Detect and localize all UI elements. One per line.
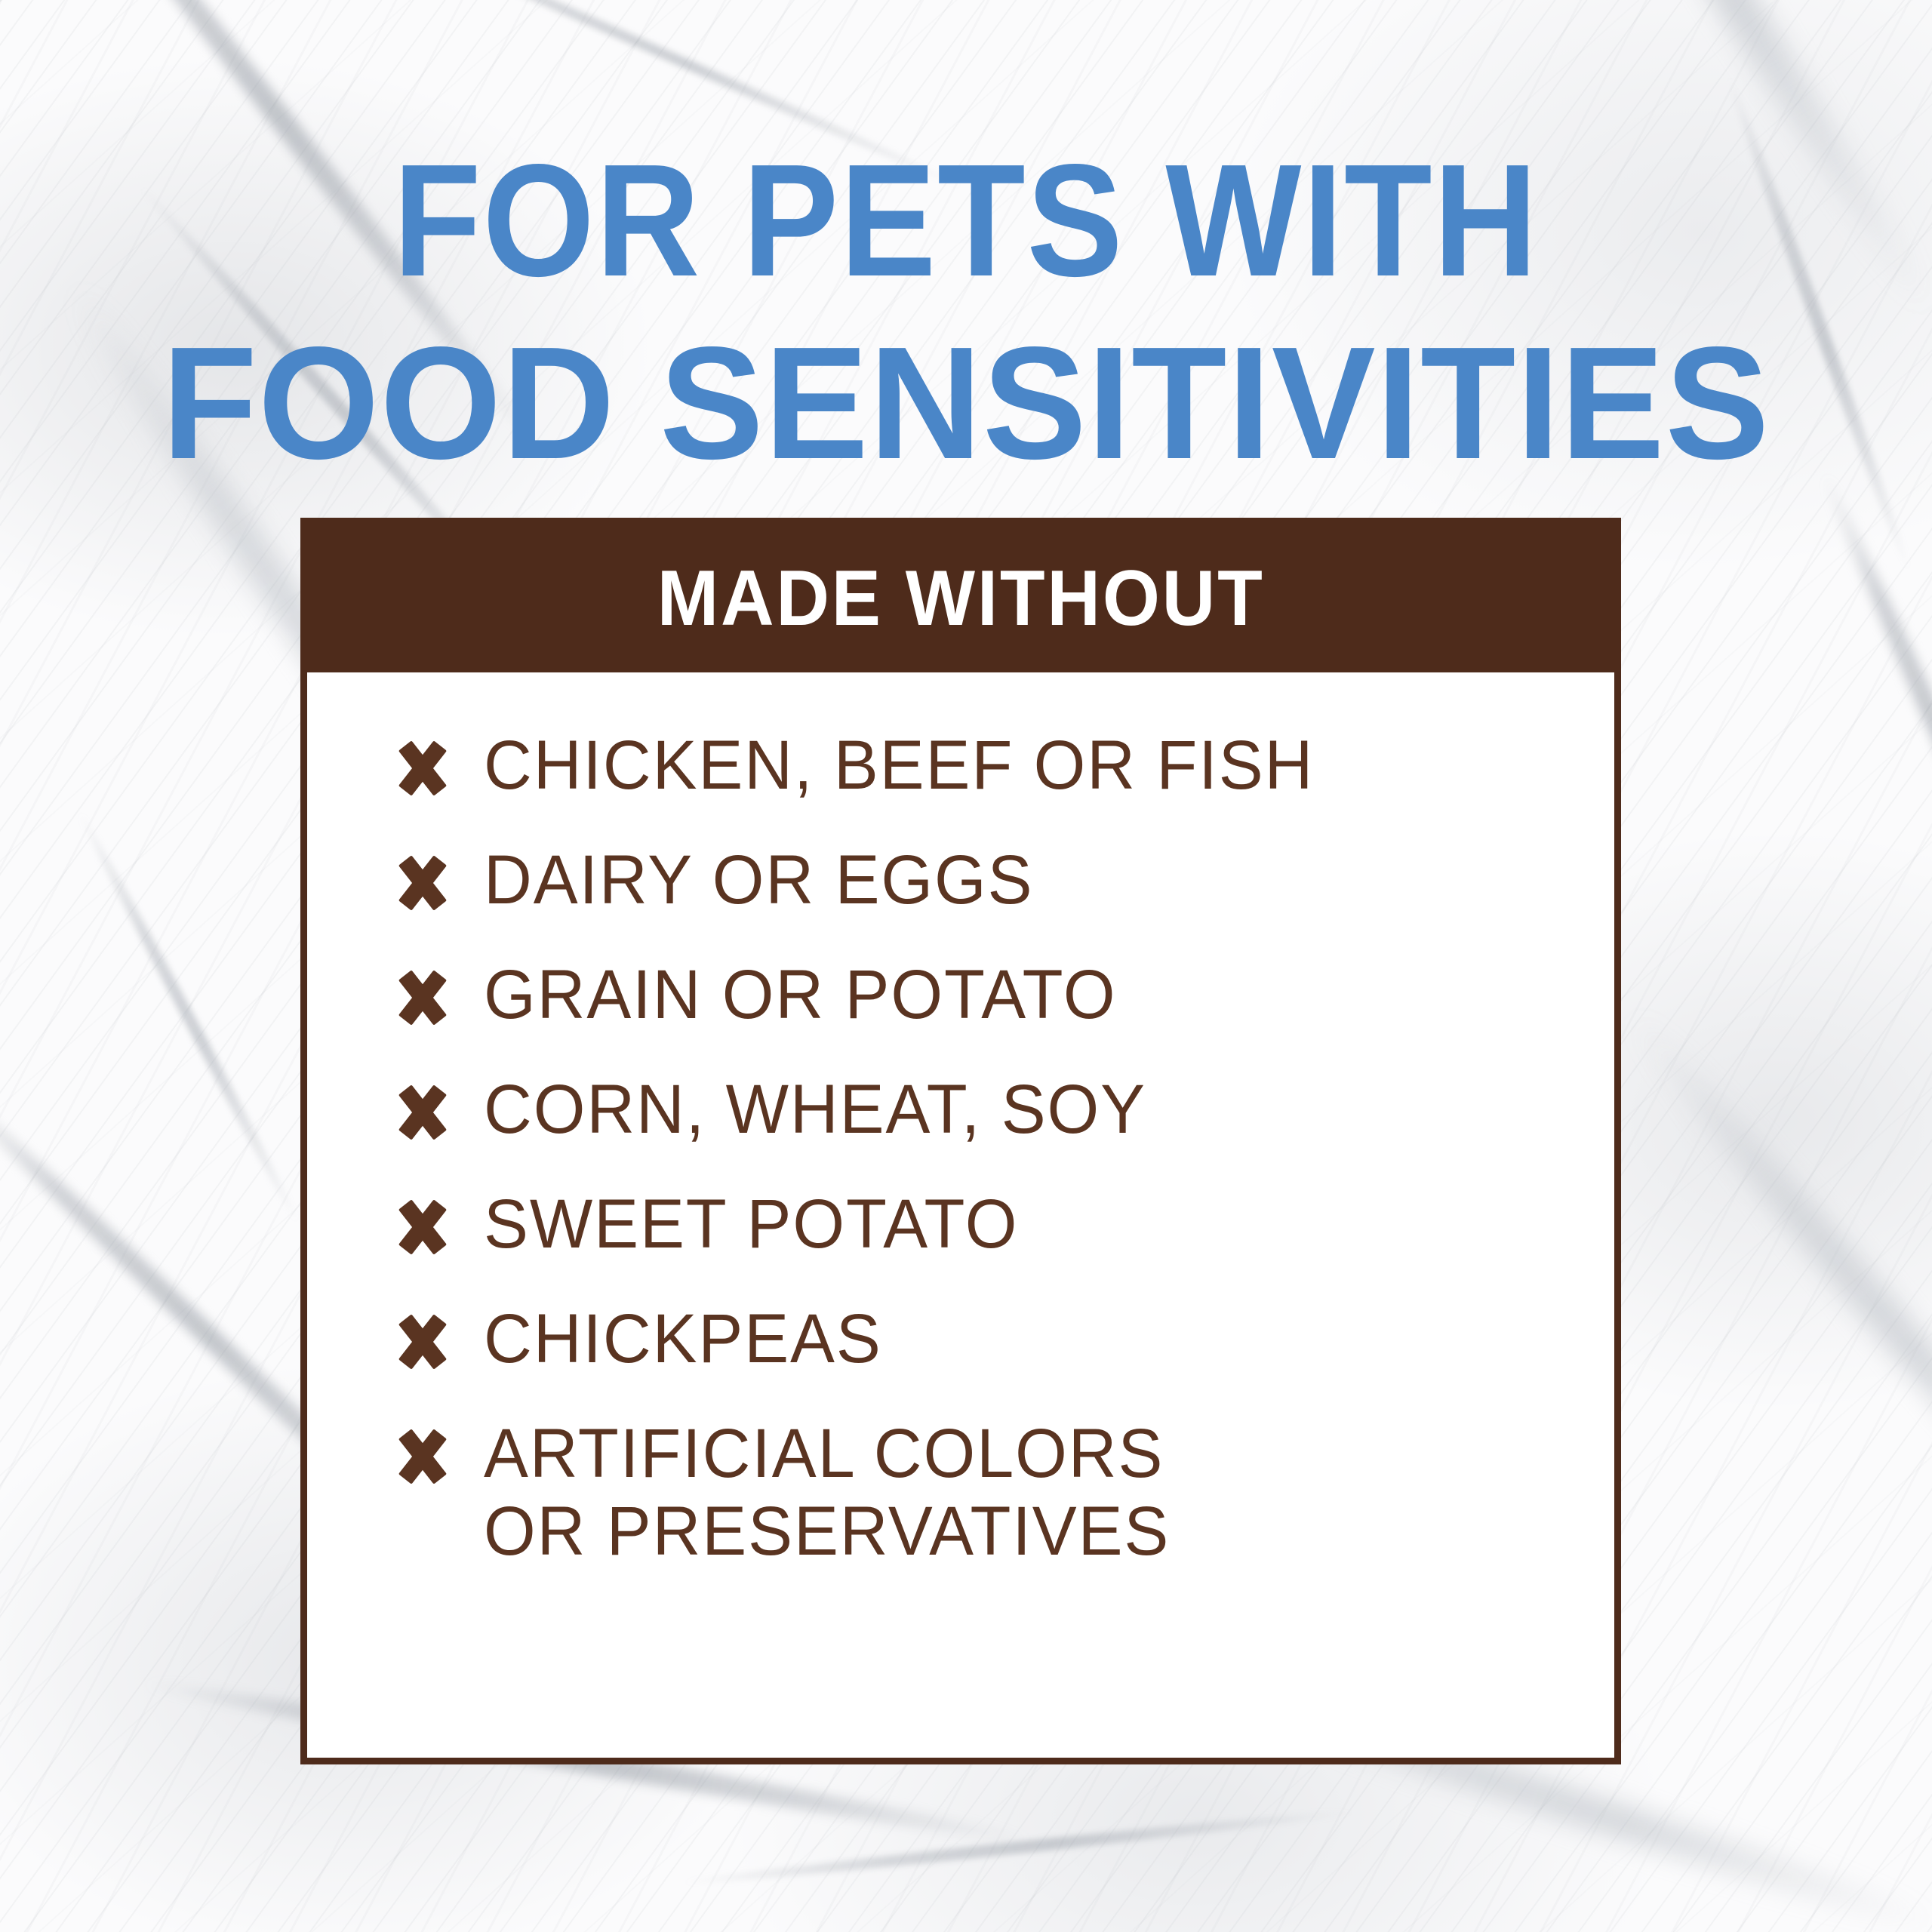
list-item-label: GRAIN OR POTATO	[484, 956, 1116, 1034]
x-mark-icon	[395, 1083, 451, 1142]
list-item-label: SWEET POTATO	[484, 1186, 1018, 1263]
x-mark-icon	[395, 739, 451, 798]
poster-headline: FOR PETS WITH FOOD SENSITIVITIES	[0, 142, 1932, 481]
x-mark-icon	[395, 1198, 451, 1257]
made-without-list: CHICKEN, BEEF OR FISH DAIRY OR EGGS GRAI…	[307, 672, 1614, 1571]
list-item-label: CHICKPEAS	[484, 1300, 882, 1378]
headline-line-1: FOR PETS WITH	[97, 142, 1835, 299]
made-without-card: MADE WITHOUT CHICKEN, BEEF OR FISH DAIRY…	[300, 518, 1621, 1764]
card-header-bar: MADE WITHOUT	[307, 525, 1614, 672]
list-item-label: ARTIFICIAL COLORS OR PRESERVATIVES	[484, 1415, 1170, 1571]
list-item: GRAIN OR POTATO	[395, 956, 1614, 1034]
list-item: ARTIFICIAL COLORS OR PRESERVATIVES	[395, 1415, 1614, 1571]
list-item: CORN, WHEAT, SOY	[395, 1071, 1614, 1149]
list-item: DAIRY OR EGGS	[395, 841, 1614, 919]
card-header-title: MADE WITHOUT	[657, 554, 1265, 644]
list-item-label: DAIRY OR EGGS	[484, 841, 1033, 919]
x-mark-icon	[395, 854, 451, 912]
list-item: SWEET POTATO	[395, 1186, 1614, 1263]
list-item-label: CORN, WHEAT, SOY	[484, 1071, 1146, 1149]
list-item: CHICKEN, BEEF OR FISH	[395, 727, 1614, 804]
poster-canvas: FOR PETS WITH FOOD SENSITIVITIES MADE WI…	[0, 0, 1932, 1932]
x-mark-icon	[395, 968, 451, 1027]
headline-line-2: FOOD SENSITIVITIES	[24, 325, 1908, 481]
x-mark-icon	[395, 1312, 451, 1371]
x-mark-icon	[395, 1427, 451, 1486]
list-item: CHICKPEAS	[395, 1300, 1614, 1378]
list-item-label: CHICKEN, BEEF OR FISH	[484, 727, 1314, 804]
